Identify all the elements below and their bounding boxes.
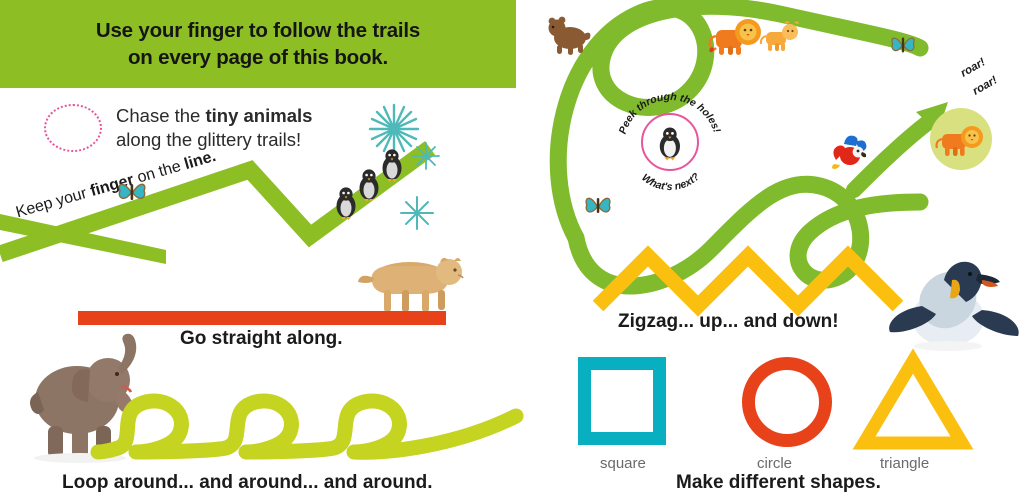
straight-line-bar [78, 311, 446, 325]
roar-text-2: roar! [971, 74, 1000, 97]
dotted-circle-decoration [44, 104, 102, 152]
banner-line-1: Use your finger to follow the trails [96, 17, 420, 44]
loop-caption: Loop around... and around... and around. [62, 472, 432, 494]
lion-icon [712, 14, 764, 58]
butterfly-icon [584, 194, 612, 218]
shapes-caption: Make different shapes. [676, 472, 881, 494]
intro-line-2: along the glittery trails! [116, 128, 301, 151]
zigzag-trail [596, 248, 912, 314]
peek-badge[interactable]: Peek through the holes! What's next? [612, 84, 728, 200]
shape-circle [742, 357, 832, 447]
banner: Use your finger to follow the trails on … [0, 0, 516, 88]
sparkle-icon [400, 196, 434, 230]
king-penguin-photo [886, 250, 1024, 354]
straight-caption: Go straight along. [180, 328, 343, 350]
intro-text-bold: tiny animals [205, 105, 312, 126]
roar-text-1: roar! [959, 56, 988, 79]
banner-line-2: on every page of this book. [128, 44, 388, 71]
shape-label-triangle: triangle [880, 455, 929, 472]
zigzag-caption: Zigzag... up... and down! [618, 311, 839, 333]
penguin-icon [378, 148, 406, 182]
lion-icon [938, 122, 990, 162]
shape-label-square: square [600, 455, 646, 472]
shape-square [578, 357, 666, 445]
butterfly-icon [890, 34, 916, 56]
shape-label-circle: circle [757, 455, 792, 472]
bear-icon [548, 14, 592, 56]
svg-text:What's next?: What's next? [639, 170, 702, 193]
lion-cub-icon [762, 20, 802, 54]
parrot-icon [830, 130, 870, 170]
intro-text-plain: Chase the [116, 105, 205, 126]
shape-triangle [858, 355, 968, 449]
intro-line-1: Chase the tiny animals [116, 104, 312, 127]
lion-cub-photo [352, 250, 476, 314]
loop-trail [96, 352, 526, 464]
butterfly-icon [117, 180, 147, 204]
sparkle-icon [412, 142, 440, 170]
left-trail-tail [0, 222, 180, 272]
book-spread: Use your finger to follow the trails on … [0, 0, 1024, 499]
